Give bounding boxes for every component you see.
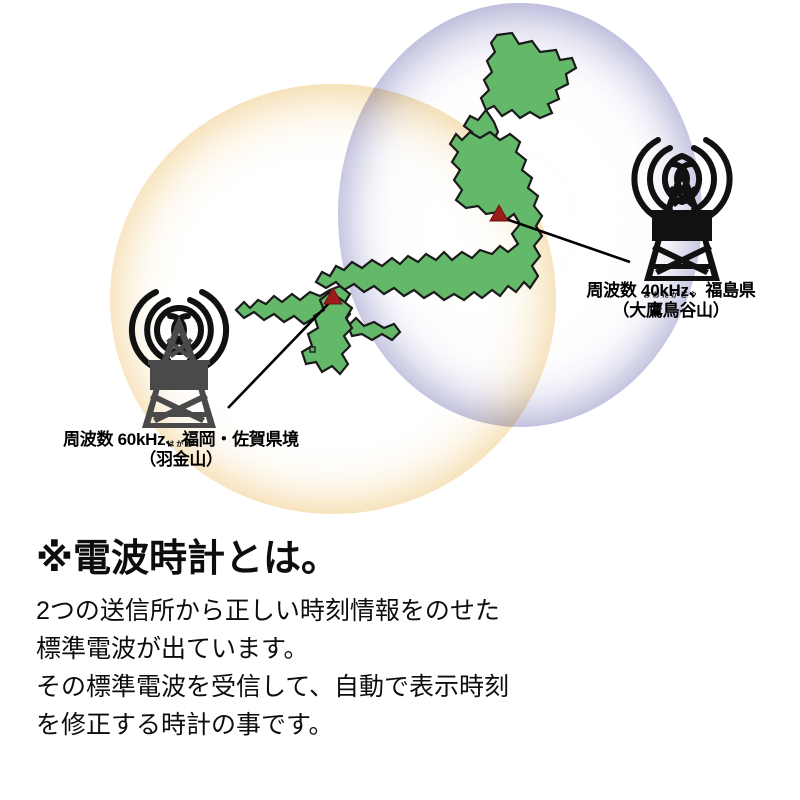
coverage-diagram: 周波数 40kHz、福島県 （おおたかどや大鷹鳥谷山） 周波数 60kHz、福岡… (0, 0, 800, 530)
paren-close-left: ） (206, 450, 223, 469)
mountain-name-right: 大鷹鳥谷山 (629, 301, 713, 320)
mountain-name-right-ruby: おおたかどや (629, 292, 713, 299)
page-root: 周波数 40kHz、福島県 （おおたかどや大鷹鳥谷山） 周波数 60kHz、福岡… (0, 0, 800, 800)
description-line-4: を修正する時計の事です。 (36, 706, 766, 744)
description-line-2: 標準電波が出ています。 (36, 630, 766, 668)
marker-hagane-yama (324, 288, 342, 304)
mountain-name-left: 羽金山 (156, 450, 206, 469)
mountain-name-right-wrap: おおたかどや大鷹鳥谷山 (629, 301, 713, 321)
mountain-name-left-ruby: はがね (156, 441, 206, 448)
mountain-name-left-wrap: はがね羽金山 (156, 450, 206, 470)
paren-open-left: （ (139, 450, 156, 469)
description-block: ※電波時計とは。 2つの送信所から正しい時刻情報をのせた 標準電波が出ています。… (36, 538, 766, 744)
radio-transmission-tower-icon-right (592, 112, 772, 284)
station-right-line2: （おおたかどや大鷹鳥谷山） (566, 301, 776, 321)
description-line-3: その標準電波を受信して、自動で表示時刻 (36, 668, 766, 706)
station-left-line2: （はがね羽金山） (42, 450, 320, 470)
paren-close-right: ） (713, 301, 730, 320)
page-title: ※電波時計とは。 (36, 538, 766, 582)
station-label-right: 周波数 40kHz、福島県 （おおたかどや大鷹鳥谷山） (566, 281, 776, 321)
station-label-left: 周波数 60kHz、福岡・佐賀県境 （はがね羽金山） (42, 430, 320, 470)
paren-open-right: （ (613, 301, 630, 320)
description-line-1: 2つの送信所から正しい時刻情報をのせた (36, 592, 766, 630)
radio-transmission-tower-icon-left (92, 272, 268, 432)
marker-otakadoya-yama (490, 205, 508, 221)
